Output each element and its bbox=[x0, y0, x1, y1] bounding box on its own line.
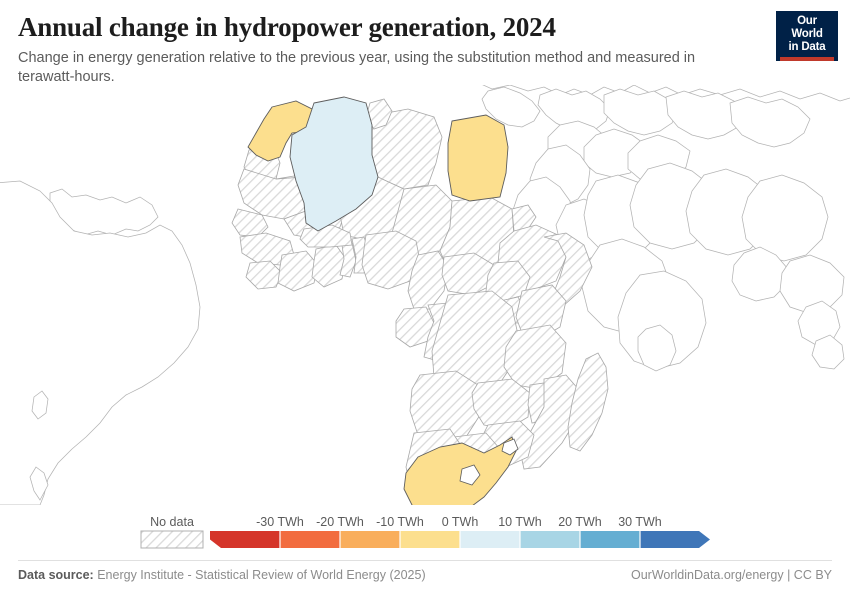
owid-logo-line1: Our World bbox=[780, 15, 834, 41]
legend-tick-label: 20 TWh bbox=[558, 515, 602, 529]
owid-logo[interactable]: Our World in Data bbox=[776, 11, 838, 61]
chart-footer: Data source: Energy Institute - Statisti… bbox=[18, 568, 832, 582]
footer-source-value: Energy Institute - Statistical Review of… bbox=[97, 568, 425, 582]
legend-tick-label: -20 TWh bbox=[316, 515, 364, 529]
legend-bin-30-20[interactable] bbox=[280, 531, 340, 548]
legend-bin-20-30[interactable] bbox=[580, 531, 640, 548]
chart-subtitle: Change in energy generation relative to … bbox=[18, 49, 718, 87]
footer-divider bbox=[18, 560, 832, 561]
owid-logo-line2: in Data bbox=[780, 41, 834, 54]
legend-tick-label: -30 TWh bbox=[256, 515, 304, 529]
legend-tick-label: 30 TWh bbox=[618, 515, 662, 529]
owid-logo-redbar bbox=[780, 57, 834, 61]
legend-bin-0-10[interactable] bbox=[460, 531, 520, 548]
legend-no-data-label: No data bbox=[150, 515, 194, 529]
legend-bin-lt-30[interactable] bbox=[221, 531, 280, 548]
legend-bin-gt-30[interactable] bbox=[640, 531, 699, 548]
legend-bin-20-10[interactable] bbox=[340, 531, 400, 548]
legend-bin-10-20[interactable] bbox=[520, 531, 580, 548]
legend-no-data-swatch[interactable] bbox=[141, 531, 203, 548]
legend-bin-low-arrow[interactable] bbox=[210, 531, 221, 548]
legend-tick-label: -10 TWh bbox=[376, 515, 424, 529]
legend-svg: No data -30 TWh -20 TWh -10 TWh bbox=[0, 505, 850, 555]
legend-bin-high-arrow[interactable] bbox=[699, 531, 710, 548]
chart-header: Annual change in hydropower generation, … bbox=[18, 10, 832, 87]
map-legend[interactable]: No data -30 TWh -20 TWh -10 TWh bbox=[0, 505, 850, 555]
country-sierra-leone[interactable] bbox=[246, 261, 282, 289]
footer-license[interactable]: OurWorldinData.org/energy | CC BY bbox=[631, 568, 832, 582]
country-egypt[interactable] bbox=[448, 115, 508, 201]
country-zambia[interactable] bbox=[472, 379, 530, 429]
legend-tick-label: 10 TWh bbox=[498, 515, 542, 529]
legend-bin-10-0[interactable] bbox=[400, 531, 460, 548]
map-svg bbox=[0, 85, 850, 505]
region-south-america bbox=[0, 181, 200, 505]
world-map[interactable] bbox=[0, 85, 850, 505]
legend-tick-label: 0 TWh bbox=[442, 515, 479, 529]
country-madagascar[interactable] bbox=[568, 353, 608, 451]
country-ivory-coast[interactable] bbox=[278, 251, 318, 291]
page-title: Annual change in hydropower generation, … bbox=[18, 10, 832, 44]
footer-source: Data source: Energy Institute - Statisti… bbox=[18, 568, 426, 582]
owid-map-chart: Annual change in hydropower generation, … bbox=[0, 0, 850, 600]
footer-source-key: Data source: bbox=[18, 568, 94, 582]
country-ghana[interactable] bbox=[312, 245, 346, 287]
